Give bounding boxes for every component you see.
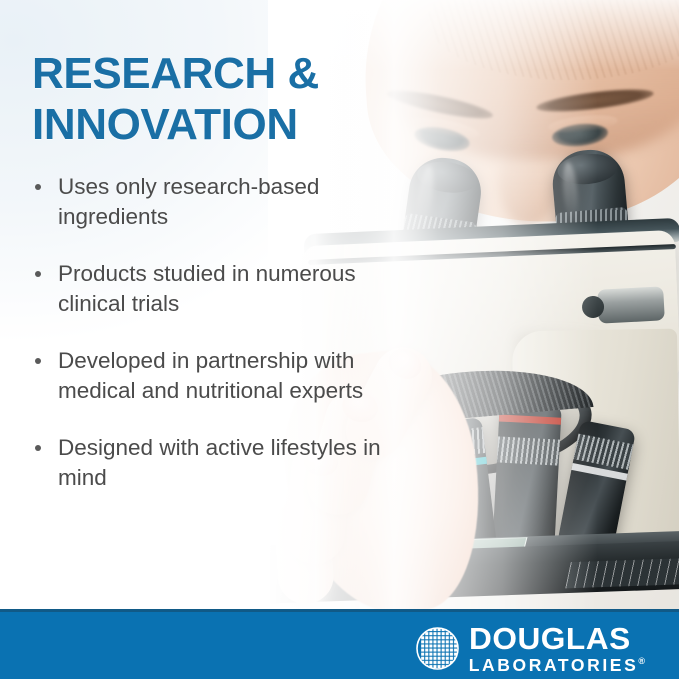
bullet-text: Developed in partnership with medical an… [58, 348, 363, 403]
brand-name-primary: DOUGLAS [469, 623, 649, 654]
bullet-text: Products studied in numerous clinical tr… [58, 261, 356, 316]
list-item: Developed in partnership with medical an… [32, 346, 382, 406]
page-title: RESEARCH & INNOVATION [32, 48, 382, 150]
douglas-laboratories-logo: DOUGLAS LABORATORIES® [416, 623, 645, 675]
brand-wordmark: DOUGLAS LABORATORIES® [469, 623, 645, 675]
bullet-text: Designed with active lifestyles in mind [58, 435, 381, 490]
bullet-dot-icon [35, 358, 41, 364]
grid-circle-logo-icon [416, 627, 459, 670]
brand-name-secondary: LABORATORIES® [469, 657, 645, 675]
content-column: RESEARCH & INNOVATION Uses only research… [32, 48, 382, 493]
brand-footer-bar: DOUGLAS LABORATORIES® [0, 609, 679, 679]
research-innovation-poster: RESEARCH & INNOVATION Uses only research… [0, 0, 679, 679]
list-item: Products studied in numerous clinical tr… [32, 259, 382, 319]
list-item: Designed with active lifestyles in mind [32, 433, 382, 493]
page-title-line-2: INNOVATION [32, 99, 382, 150]
list-item: Uses only research-based ingredients [32, 172, 382, 232]
bullet-dot-icon [35, 445, 41, 451]
bullet-text: Uses only research-based ingredients [58, 174, 319, 229]
registered-trademark-icon: ® [638, 656, 645, 666]
feature-bullet-list: Uses only research-based ingredients Pro… [32, 172, 382, 493]
bullet-dot-icon [35, 184, 41, 190]
bullet-dot-icon [35, 271, 41, 277]
page-title-line-1: RESEARCH & [32, 48, 382, 99]
